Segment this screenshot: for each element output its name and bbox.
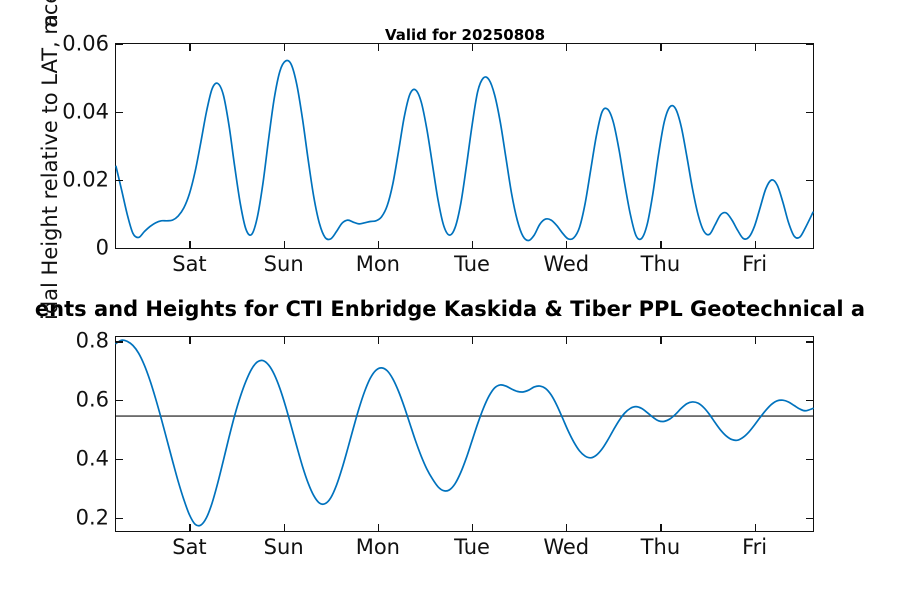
x-tick-mark — [566, 337, 567, 344]
x-tick-label-thu: Thu — [641, 537, 680, 558]
x-tick-label-sat: Sat — [172, 254, 206, 275]
x-tick-mark — [378, 337, 379, 344]
y-tick-label: 0.04 — [62, 102, 109, 123]
y-tick-mark — [116, 180, 123, 181]
y-tick-label: 0.06 — [62, 34, 109, 55]
x-tick-mark — [566, 241, 567, 248]
y-tick-mark — [806, 341, 813, 342]
y-tick-label: 0.6 — [76, 390, 109, 411]
bottom-chart-axes: 0.20.40.60.8SatSunMonTueWedThuFri — [115, 336, 814, 532]
x-tick-mark — [378, 44, 379, 51]
y-tick-label: 0.4 — [76, 448, 109, 469]
x-tick-mark — [189, 337, 190, 344]
top-chart-axes: 00.020.040.06SatSunMonTueWedThuFri — [115, 43, 814, 249]
y-tick-mark — [116, 518, 123, 519]
x-tick-mark — [284, 524, 285, 531]
top-chart-plot-area — [116, 44, 813, 248]
y-tick-mark — [116, 112, 123, 113]
y-tick-label: 0 — [96, 238, 109, 259]
y-tick-mark — [116, 459, 123, 460]
y-tick-mark — [806, 248, 813, 249]
x-tick-mark — [566, 44, 567, 51]
x-tick-mark — [378, 524, 379, 531]
figure-suptitle: ents and Heights for CTI Enbridge Kaskid… — [35, 299, 865, 320]
x-tick-mark — [378, 241, 379, 248]
bottom-chart-plot-area — [116, 337, 813, 531]
y-tick-label: 0.2 — [76, 507, 109, 528]
x-tick-label-sun: Sun — [264, 537, 304, 558]
x-tick-mark — [284, 44, 285, 51]
x-tick-label-wed: Wed — [543, 537, 589, 558]
x-tick-mark — [472, 241, 473, 248]
x-tick-label-fri: Fri — [742, 537, 767, 558]
y-tick-mark — [806, 44, 813, 45]
x-tick-label-fri: Fri — [742, 254, 767, 275]
matlab-figure: ents and Heights for CTI Enbridge Kaskid… — [0, 0, 900, 600]
top-chart-title: Valid for 20250808 — [385, 28, 545, 43]
bottom-chart-ylabel: idal Height relative to LAT, m — [40, 14, 61, 320]
x-tick-label-wed: Wed — [543, 254, 589, 275]
tidal-current-speed-series — [116, 60, 813, 240]
y-tick-mark — [806, 459, 813, 460]
x-tick-label-sun: Sun — [264, 254, 304, 275]
x-tick-mark — [189, 44, 190, 51]
x-tick-mark — [660, 337, 661, 344]
x-tick-label-thu: Thu — [641, 254, 680, 275]
tidal-height-series — [116, 340, 813, 526]
x-tick-mark — [472, 337, 473, 344]
x-tick-mark — [660, 241, 661, 248]
y-tick-mark — [806, 112, 813, 113]
x-tick-mark — [755, 44, 756, 51]
x-tick-mark — [755, 337, 756, 344]
x-tick-label-tue: Tue — [454, 254, 490, 275]
x-tick-mark — [755, 241, 756, 248]
y-tick-mark — [116, 400, 123, 401]
x-tick-mark — [660, 524, 661, 531]
y-tick-label: 0.02 — [62, 170, 109, 191]
x-tick-label-mon: Mon — [356, 254, 400, 275]
y-tick-mark — [806, 180, 813, 181]
y-tick-label: 0.8 — [76, 331, 109, 352]
y-tick-mark — [116, 44, 123, 45]
x-tick-mark — [284, 241, 285, 248]
x-tick-mark — [660, 44, 661, 51]
x-tick-mark — [566, 524, 567, 531]
x-tick-label-mon: Mon — [356, 537, 400, 558]
x-tick-mark — [284, 337, 285, 344]
x-tick-mark — [472, 44, 473, 51]
x-tick-mark — [755, 524, 756, 531]
y-tick-mark — [116, 248, 123, 249]
x-tick-label-tue: Tue — [454, 537, 490, 558]
x-tick-mark — [189, 524, 190, 531]
y-tick-mark — [806, 400, 813, 401]
x-tick-mark — [472, 524, 473, 531]
y-tick-mark — [116, 341, 123, 342]
x-tick-mark — [189, 241, 190, 248]
y-tick-mark — [806, 518, 813, 519]
x-tick-label-sat: Sat — [172, 537, 206, 558]
